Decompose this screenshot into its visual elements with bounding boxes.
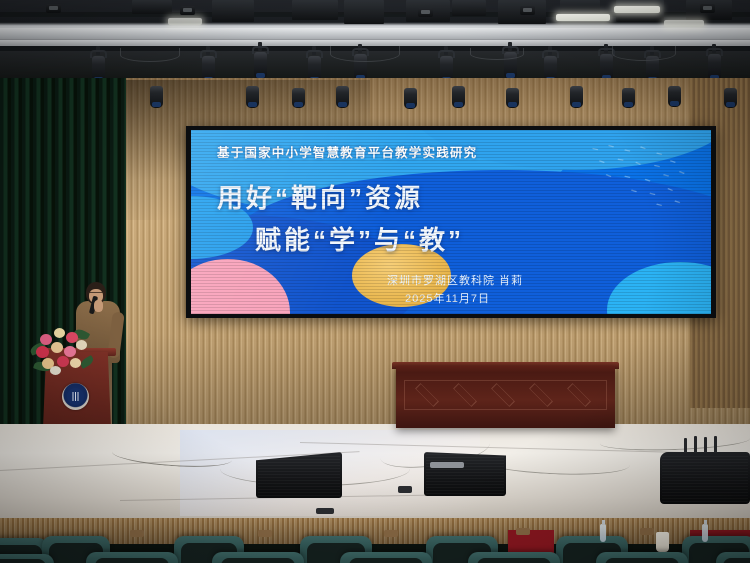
stage-light-fixture <box>520 6 535 15</box>
auditorium-photo: 基于国家中小学智慧教育平台教学实践研究 用好“靶向”资源 赋能“学”与“教” 深… <box>0 0 750 563</box>
auditorium-seat <box>212 552 304 563</box>
floral-arrangement <box>30 322 96 374</box>
tube-light <box>556 14 610 21</box>
moving-head-light <box>452 86 465 108</box>
wireless-microphone <box>714 436 717 453</box>
moving-head-light <box>622 88 635 108</box>
ceiling-panel <box>344 0 384 24</box>
tube-light <box>614 6 660 13</box>
auditorium-seat <box>596 552 688 563</box>
school-emblem-icon <box>62 383 89 410</box>
stage-monitor-right <box>424 452 506 496</box>
auditorium-seat <box>86 552 178 563</box>
auditorium-seat <box>468 552 560 563</box>
auditorium-seat <box>0 554 54 563</box>
moving-head-light <box>708 54 721 81</box>
moving-head-light <box>668 86 681 107</box>
floor-equipment-box <box>398 486 412 493</box>
moving-head-light <box>724 88 737 108</box>
dj-light-bar <box>430 462 464 468</box>
moving-head-light <box>246 86 259 108</box>
auditorium-seat <box>716 552 750 563</box>
wireless-microphone <box>694 436 697 453</box>
moving-head-light <box>336 86 349 108</box>
ceiling-panel <box>132 0 172 14</box>
presenter-hand <box>94 300 103 312</box>
water-bottle <box>600 524 606 542</box>
moving-head-light <box>254 52 267 79</box>
stage-light-fixture <box>700 4 715 13</box>
auditorium-seat <box>340 552 432 563</box>
ceiling-truss-area <box>0 0 750 86</box>
slide-date: 2025年11月7日 <box>405 290 490 306</box>
wireless-microphone <box>684 438 687 453</box>
paper-cup <box>656 532 669 552</box>
led-display-frame: 基于国家中小学智慧教育平台教学实践研究 用好“靶向”资源 赋能“学”与“教” 深… <box>186 126 716 318</box>
moving-head-light <box>292 88 305 108</box>
moving-head-light <box>404 88 417 109</box>
floor-equipment-box <box>316 508 334 514</box>
slide-title-line-2: 赋能“学”与“教” <box>255 220 464 257</box>
ceiling-panel <box>212 0 254 22</box>
tube-light <box>664 20 704 27</box>
moving-head-light <box>150 86 163 108</box>
ceiling-panel <box>292 0 338 20</box>
slide-organization: 深圳市罗湖区教科院 肖莉 <box>387 272 523 288</box>
stage-monitor-far-right <box>660 452 750 504</box>
ceiling-panel <box>452 0 486 16</box>
stage-front-panel <box>0 518 750 544</box>
slide-title-line-1: 用好“靶向”资源 <box>217 178 423 215</box>
slide-kicker-text: 基于国家中小学智慧教育平台教学实践研究 <box>217 142 477 161</box>
moving-head-light <box>570 86 583 108</box>
stage-light-fixture <box>418 8 433 17</box>
presentation-slide[interactable]: 基于国家中小学智慧教育平台教学实践研究 用好“靶向”资源 赋能“学”与“教” 深… <box>191 130 711 314</box>
wireless-microphone <box>704 437 707 453</box>
tube-light <box>168 18 202 25</box>
moving-head-light <box>506 88 519 108</box>
stage-light-fixture <box>46 4 61 13</box>
water-bottle <box>702 524 708 542</box>
moving-head-light <box>600 54 613 81</box>
stage-light-fixture <box>180 6 195 15</box>
